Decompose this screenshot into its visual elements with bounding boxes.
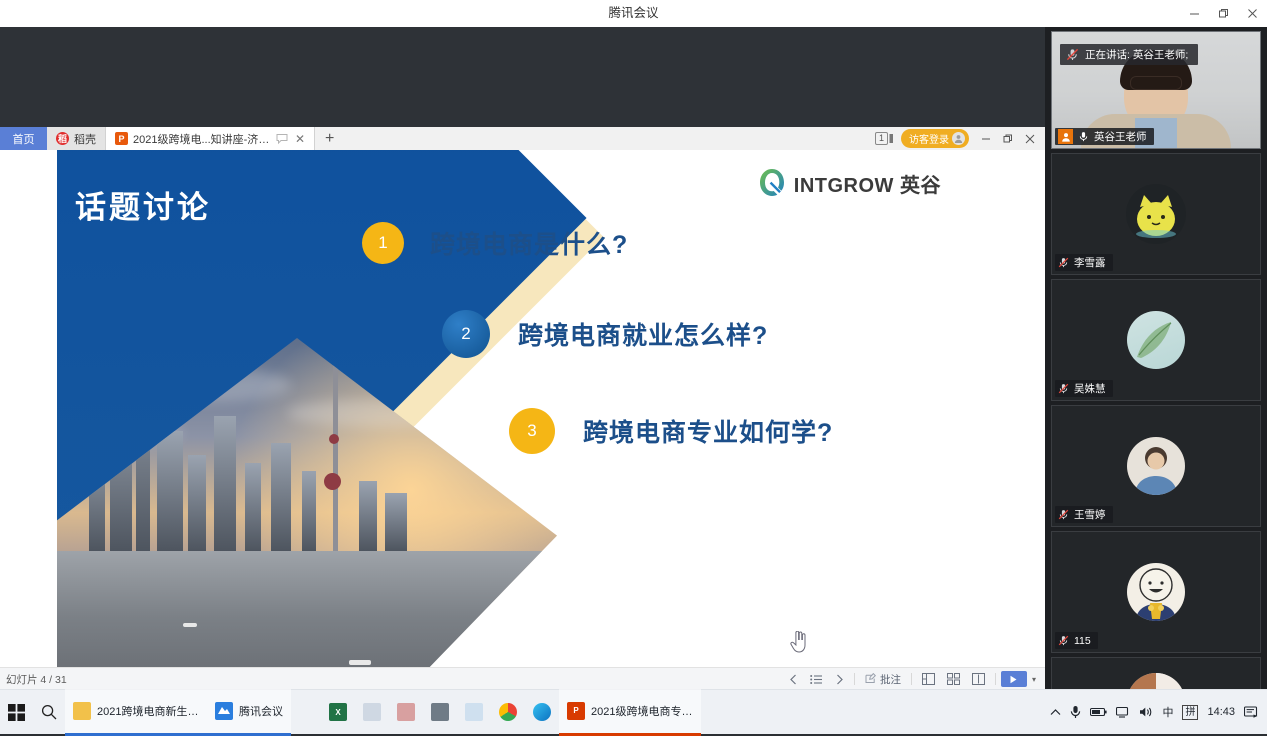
avatar [1127, 437, 1185, 495]
edge-icon [533, 703, 551, 721]
wps-home-tab[interactable]: 首页 [0, 127, 47, 150]
next-slide-icon[interactable] [830, 670, 849, 688]
taskbar-item-label: 2021跨境电商新生讲... [97, 703, 199, 719]
close-icon[interactable] [1238, 0, 1267, 27]
mouse-cursor [790, 631, 808, 653]
participant-name: 李雪露 [1074, 255, 1106, 270]
list-item: 1 跨境电商是什么? [362, 222, 628, 264]
avatar [1127, 563, 1185, 621]
list-item-label: 跨境电商就业怎么样? [518, 316, 768, 352]
notification-icon[interactable] [1244, 706, 1259, 719]
powerpoint-icon: P [115, 132, 128, 145]
wps-tab-docker[interactable]: 稻 稻壳 [47, 127, 106, 150]
comment-icon[interactable] [276, 133, 288, 145]
paint-icon [397, 703, 415, 721]
divider [911, 673, 912, 685]
microphone-icon [1078, 131, 1089, 142]
wps-window-controls [975, 127, 1041, 150]
participant-name: 英谷王老师 [1094, 129, 1147, 144]
slide-sorter-icon[interactable] [942, 670, 965, 688]
intgrow-logo: INTGROW 英谷 [758, 168, 941, 198]
meeting-window-controls [1180, 0, 1267, 27]
windows-taskbar[interactable]: 2021跨境电商新生讲... 腾讯会议 X P 2021级跨境电商专业... [0, 689, 1267, 734]
minimize-icon[interactable] [1180, 0, 1209, 27]
wps-home-tab-label: 首页 [13, 131, 35, 147]
search-icon [41, 704, 57, 720]
participant-name-bar: 115 [1055, 632, 1098, 649]
participant-tile[interactable]: 115 [1051, 531, 1261, 653]
divider [995, 673, 996, 685]
annotate-label: 批注 [880, 672, 901, 687]
avatar [1127, 311, 1185, 369]
annotate-button[interactable]: 批注 [860, 670, 906, 688]
divider [854, 673, 855, 685]
wps-tab-bar: 首页 稻 稻壳 P 2021级跨境电...知讲座-济宁学院 ✕ + 1 [0, 127, 1045, 151]
person-illustration-avatar-icon [1127, 437, 1185, 495]
taskbar-item-powerpoint[interactable]: P 2021级跨境电商专业... [559, 689, 701, 736]
intgrow-mark-icon [758, 168, 786, 198]
smiley-cartoon-avatar-icon [1127, 563, 1185, 621]
open-docs-count: 1 [875, 132, 888, 145]
microphone-icon[interactable] [1070, 705, 1081, 719]
show-hidden-icons[interactable] [1050, 708, 1061, 717]
play-slideshow-button[interactable] [1001, 671, 1027, 687]
wps-tab-presentation[interactable]: P 2021级跨境电...知讲座-济宁学院 ✕ [106, 127, 315, 150]
dockcer-icon: 稻 [56, 132, 69, 145]
participant-tile[interactable]: 李雪露 [1051, 153, 1261, 275]
clock[interactable]: 14:43 [1207, 706, 1235, 718]
microphone-muted-icon [1058, 257, 1069, 268]
ime-mode-indicator[interactable]: 中 [1162, 704, 1173, 720]
photos-icon [465, 703, 483, 721]
open-docs-badge[interactable]: 1 [875, 132, 895, 145]
volume-icon[interactable] [1139, 706, 1153, 718]
participant-tile[interactable]: 正在讲话: 英谷王老师; 英谷王老师 [1051, 31, 1261, 149]
excel-icon: X [329, 703, 347, 721]
restore-icon[interactable] [1209, 0, 1238, 27]
system-tray: 中 拼 14:43 [1050, 704, 1267, 720]
start-icon [8, 704, 25, 721]
participant-name-bar: 英谷王老师 [1055, 128, 1154, 145]
play-icon [1009, 675, 1018, 684]
guest-login-label: 访客登录 [909, 131, 949, 146]
participant-name-bar: 李雪露 [1055, 254, 1113, 271]
close-tab-icon[interactable]: ✕ [295, 132, 305, 146]
start-button[interactable] [0, 690, 33, 734]
meeting-window-title: 腾讯会议 [0, 0, 1267, 27]
list-item-label: 跨境电商专业如何学? [583, 413, 833, 449]
microphone-muted-icon [1058, 383, 1069, 394]
participant-name: 王雪婷 [1074, 507, 1106, 522]
slide-canvas[interactable]: 话题讨论 INTGROW 英谷 [0, 150, 1045, 668]
wps-status-bar: 幻灯片 4 / 31 批注 [0, 667, 1045, 690]
restore-icon[interactable] [997, 127, 1019, 150]
participant-name-bar: 吴姝慧 [1055, 380, 1113, 397]
normal-view-icon[interactable] [917, 670, 940, 688]
tencent-meeting-icon [215, 702, 233, 720]
chrome-icon [499, 703, 517, 721]
wps-tab-docker-label: 稻壳 [74, 131, 96, 147]
participant-name: 吴姝慧 [1074, 381, 1106, 396]
wps-tab-presentation-label: 2021级跨境电...知讲座-济宁学院 [133, 131, 271, 147]
taskbar-item-label: 腾讯会议 [239, 703, 283, 719]
avatar [1126, 184, 1186, 244]
reading-view-icon[interactable] [967, 670, 990, 688]
network-icon[interactable] [1116, 706, 1130, 718]
list-item-label: 跨境电商是什么? [430, 225, 628, 261]
list-item: 3 跨境电商专业如何学? [509, 408, 833, 454]
speaking-banner-label: 正在讲话: 英谷王老师; [1085, 47, 1188, 62]
taskbar-item-label: 2021级跨境电商专业... [591, 703, 693, 719]
list-item-number: 3 [509, 408, 555, 454]
taskbar-item-folder[interactable]: 2021跨境电商新生讲... [65, 689, 207, 736]
microphone-muted-icon [1066, 48, 1079, 61]
page-title: 话题讨论 [75, 182, 211, 227]
list-item-number: 2 [442, 310, 490, 358]
participant-name-bar: 王雪婷 [1055, 506, 1113, 523]
shared-screen-stage: 首页 稻 稻壳 P 2021级跨境电...知讲座-济宁学院 ✕ + 1 [0, 27, 1045, 690]
participant-name: 115 [1074, 635, 1091, 647]
participant-tile[interactable]: 王雪婷 [1051, 405, 1261, 527]
slide-number-label: 幻灯片 4 / 31 [0, 672, 67, 687]
status-bar-controls: 批注 ▾ [784, 670, 1045, 688]
intgrow-logo-text: INTGROW 英谷 [794, 169, 941, 198]
ime-pinyin-indicator[interactable]: 拼 [1182, 705, 1198, 720]
close-icon[interactable] [1019, 127, 1041, 150]
avatar [952, 132, 965, 145]
notes-icon [363, 703, 381, 721]
list-item: 2 跨境电商就业怎么样? [442, 310, 768, 358]
taskbar-icon-excel[interactable]: X [321, 690, 355, 734]
host-badge [1058, 129, 1073, 144]
play-options-caret[interactable]: ▾ [1029, 675, 1039, 684]
leaf-photo-avatar-icon [1127, 311, 1185, 369]
docs-stack-icon [889, 133, 895, 144]
taskbar-icon-edge[interactable] [525, 690, 559, 734]
battery-icon[interactable] [1090, 707, 1107, 717]
taskbar-icon-calculator[interactable] [423, 690, 457, 734]
slide-list-icon[interactable] [805, 670, 828, 688]
microphone-muted-icon [1058, 509, 1069, 520]
new-tab-button[interactable]: + [315, 127, 344, 150]
microphone-muted-icon [1058, 635, 1069, 646]
wps-tabbar-right: 1 访客登录 [875, 127, 1045, 150]
taskbar-icon-photos[interactable] [457, 690, 491, 734]
powerpoint-icon: P [567, 702, 585, 720]
list-item-number: 1 [362, 222, 404, 264]
taskbar-icon-paint[interactable] [389, 690, 423, 734]
participant-tile[interactable]: 吴姝慧 [1051, 279, 1261, 401]
cartoon-yellow-avatar-icon [1128, 189, 1184, 239]
annotate-icon [865, 673, 877, 685]
meeting-title-bar: 腾讯会议 [0, 0, 1267, 28]
calculator-icon [431, 703, 449, 721]
search-button[interactable] [33, 690, 65, 734]
folder-icon [73, 702, 91, 720]
guest-login-button[interactable]: 访客登录 [901, 129, 969, 148]
taskbar-icon-chrome[interactable] [491, 690, 525, 734]
wps-office-window: 首页 稻 稻壳 P 2021级跨境电...知讲座-济宁学院 ✕ + 1 [0, 127, 1045, 690]
taskbar-icon-notes[interactable] [355, 690, 389, 734]
participant-strip[interactable]: 正在讲话: 英谷王老师; 英谷王老师 [1045, 27, 1267, 734]
taskbar-item-tencent-meeting[interactable]: 腾讯会议 [207, 689, 291, 736]
slide-content: 话题讨论 INTGROW 英谷 [57, 150, 977, 668]
prev-slide-icon[interactable] [784, 670, 803, 688]
minimize-icon[interactable] [975, 127, 997, 150]
speaking-banner: 正在讲话: 英谷王老师; [1060, 44, 1198, 65]
